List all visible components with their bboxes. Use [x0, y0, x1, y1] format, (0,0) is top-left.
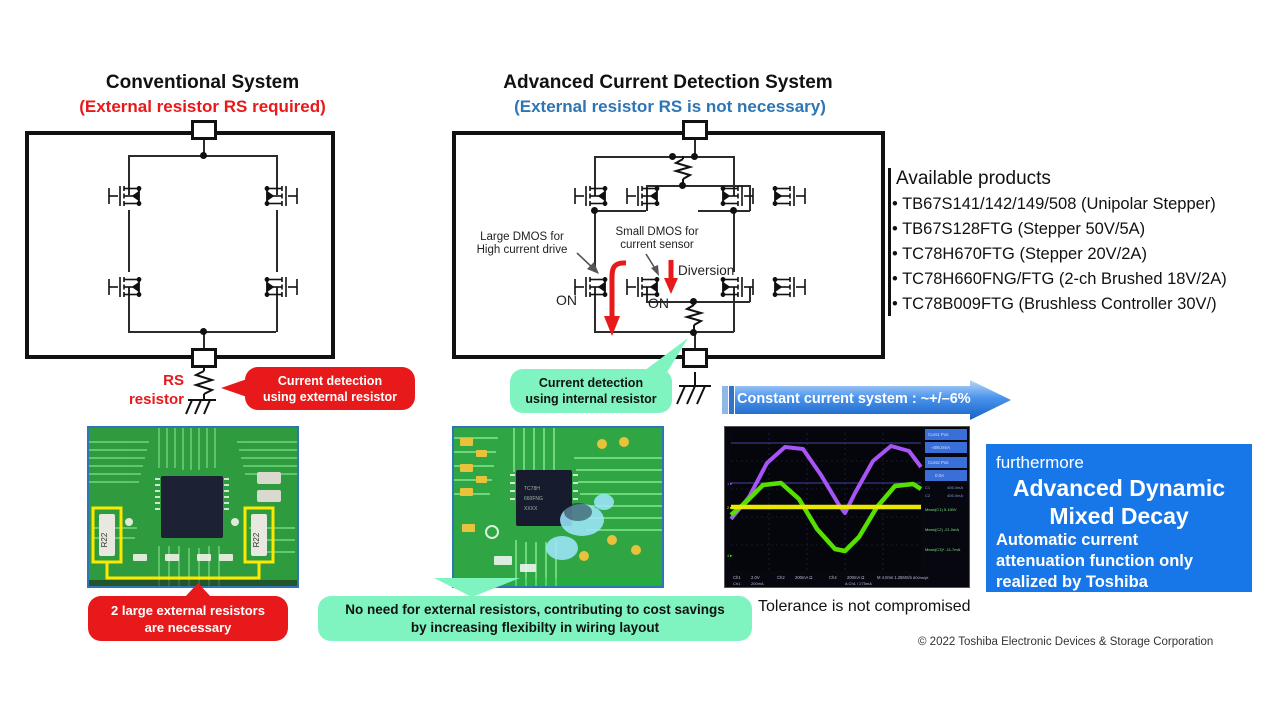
svg-text:A Ch1 / 275mA: A Ch1 / 275mA	[845, 581, 872, 586]
right-panel-title: Advanced Current Detection System	[448, 72, 888, 94]
mosfet-right-bottom-large-left	[573, 272, 617, 302]
product-item: • TC78B009FTG (Brushless Controller 30V/…	[892, 292, 1227, 317]
product-label: TC78B009FTG (Brushless Controller 30V/)	[902, 295, 1217, 313]
node-right-top-a	[669, 153, 676, 160]
mosfet-left-top-a	[107, 181, 151, 211]
bullet-icon: •	[892, 195, 898, 213]
svg-text:406.0mA: 406.0mA	[947, 493, 963, 498]
oscilloscope-screenshot: Curs1 Pos-406.0mA Curs2 Pos0.0A C1406.0m…	[724, 426, 970, 588]
bullet-icon: •	[892, 295, 898, 313]
bullet-icon: •	[892, 220, 898, 238]
svg-text:Mean(C2) -21.0mA: Mean(C2) -21.0mA	[925, 527, 959, 532]
rs-resistor-label: RS resistor	[112, 371, 184, 409]
product-item: • TC78H660FNG/FTG (2-ch Brushed 18V/2A)	[892, 267, 1227, 292]
annotation-large-dmos-line1: Large DMOS for	[462, 231, 582, 244]
svg-text:Curs1 Pos: Curs1 Pos	[928, 432, 949, 437]
svg-text:2►: 2►	[727, 505, 733, 510]
svg-text:R22: R22	[100, 532, 109, 547]
info-box-line2b: Mixed Decay	[996, 502, 1242, 530]
svg-text:4►: 4►	[727, 553, 733, 558]
node-right-top-b	[691, 153, 698, 160]
mosfet-left-top-b	[255, 181, 299, 211]
products-divider	[888, 168, 891, 316]
product-label: TB67S141/142/149/508 (Unipolar Stepper)	[902, 195, 1216, 213]
svg-text:M 4.0ms 1.25MS/s: M 4.0ms 1.25MS/s	[877, 575, 912, 580]
pcb-photo-advanced: TC78H660FNGXXXX	[452, 426, 664, 588]
mosfet-left-bottom-a	[107, 272, 151, 302]
callout-external-resistor-detection: Current detection using external resisto…	[245, 367, 415, 410]
annotation-large-dmos-line2: High current drive	[462, 244, 582, 257]
svg-text:660FNG: 660FNG	[524, 496, 543, 502]
callout-external-tail	[221, 379, 247, 397]
product-item: • TB67S128FTG (Stepper 50V/5A)	[892, 217, 1227, 242]
node-right-mid-left	[591, 207, 598, 214]
pcb-photo-conventional: R22 R22	[87, 426, 299, 588]
svg-text:Ch1: Ch1	[733, 581, 741, 586]
circuit-pin-top-left-diagram	[191, 120, 217, 140]
circuit-pin-top-right-diagram	[682, 120, 708, 140]
svg-text:Ch2: Ch2	[777, 575, 785, 580]
callout-int-line2: using internal resistor	[525, 391, 656, 407]
mosfet-right-bottom-large-right	[763, 272, 807, 302]
callout-two-res-line2: are necessary	[145, 619, 232, 636]
callout-no-external-resistors: No need for external resistors, contribu…	[318, 596, 752, 641]
svg-text:Mean(C1) 5.190V: Mean(C1) 5.190V	[925, 507, 957, 512]
mosfet-right-bottom-sense-left	[625, 272, 669, 302]
products-list: • TB67S141/142/149/508 (Unipolar Stepper…	[892, 192, 1227, 317]
info-box-line2a: Advanced Dynamic	[996, 474, 1242, 502]
info-box-line1: furthermore	[996, 452, 1242, 474]
callout-two-res-line1: 2 large external resistors	[111, 602, 265, 619]
svg-text:Ch1: Ch1	[733, 575, 741, 580]
callout-no-external-tail	[432, 578, 522, 603]
mosfet-right-top-sense-left	[625, 181, 669, 211]
node-left-top	[200, 152, 207, 159]
right-panel-subtitle: (External resistor RS is not necessary)	[420, 97, 920, 117]
svg-text:0.0A: 0.0A	[935, 473, 944, 478]
tolerance-note: Tolerance is not compromised	[758, 598, 971, 616]
circuit-pin-bottom-left-diagram	[191, 348, 217, 368]
annotation-small-dmos: Small DMOS for current sensor	[597, 226, 717, 252]
svg-text:C1: C1	[925, 485, 931, 490]
svg-text:TC78H: TC78H	[524, 486, 540, 492]
node-left-bottom	[200, 328, 207, 335]
external-resistor-rs	[191, 367, 217, 401]
svg-text:406.0mA: 406.0mA	[947, 485, 963, 490]
callout-ext-line1: Current detection	[278, 373, 382, 389]
svg-text:2.0V: 2.0V	[751, 575, 760, 580]
annotation-small-dmos-line2: current sensor	[597, 239, 717, 252]
callout-internal-tail	[620, 338, 690, 381]
info-box-line3b: attenuation function only	[996, 551, 1242, 572]
annotation-small-dmos-line1: Small DMOS for	[597, 226, 717, 239]
svg-text:200mA: 200mA	[751, 581, 764, 586]
svg-text:Curs2 Pos: Curs2 Pos	[928, 460, 949, 465]
svg-text:Mean(C3)* -11.7mA: Mean(C3)* -11.7mA	[925, 547, 961, 552]
product-item: • TC78H670FTG (Stepper 20V/2A)	[892, 242, 1227, 267]
ground-symbol-left	[183, 398, 225, 418]
node-right-mid-right	[730, 207, 737, 214]
banner-text: Constant current system : ~+/–6%	[737, 391, 971, 407]
svg-text:200mA Ω: 200mA Ω	[847, 575, 864, 580]
left-panel-title: Conventional System	[0, 72, 405, 94]
product-item: • TB67S141/142/149/508 (Unipolar Stepper…	[892, 192, 1227, 217]
svg-text:200mA Ω: 200mA Ω	[795, 575, 812, 580]
rs-label-line2: resistor	[112, 390, 184, 409]
svg-text:800ns/pt: 800ns/pt	[913, 575, 929, 580]
left-panel-subtitle: (External resistor RS required)	[0, 97, 405, 117]
svg-text:R22: R22	[252, 532, 261, 547]
conventional-circuit-frame	[25, 131, 335, 359]
annotation-large-dmos: Large DMOS for High current drive	[462, 231, 582, 257]
svg-text:-406.0mA: -406.0mA	[931, 445, 950, 450]
wire-right-top-rail	[594, 156, 734, 158]
svg-text:Ch4: Ch4	[829, 575, 837, 580]
svg-text:C2: C2	[925, 493, 931, 498]
node-right-sense-bottom-bot	[690, 329, 697, 336]
svg-text:XXXX: XXXX	[524, 506, 538, 512]
product-label: TC78H670FTG (Stepper 20V/2A)	[902, 245, 1147, 263]
callout-two-resistors-tail	[178, 583, 218, 604]
mosfet-right-bottom-sense-right	[711, 272, 755, 302]
copyright-text: © 2022 Toshiba Electronic Devices & Stor…	[918, 636, 1213, 648]
node-right-sense-bottom-top	[690, 298, 697, 305]
advanced-dynamic-mixed-decay-box: furthermore Advanced Dynamic Mixed Decay…	[986, 444, 1252, 592]
callout-ext-line2: using external resistor	[263, 389, 397, 405]
rs-label-line1: RS	[112, 371, 184, 390]
wire-left-leg-b-mid	[276, 210, 278, 272]
callout-no-ext-line1: No need for external resistors, contribu…	[345, 601, 725, 619]
product-label: TC78H660FNG/FTG (2-ch Brushed 18V/2A)	[902, 270, 1227, 288]
info-box-line3a: Automatic current	[996, 530, 1242, 551]
wire-left-leg-a-mid	[128, 210, 130, 272]
products-title: Available products	[896, 166, 1051, 191]
svg-text:1►: 1►	[727, 481, 733, 486]
mosfet-right-top-large-right	[763, 181, 807, 211]
info-box-line3c: realized by Toshiba	[996, 572, 1242, 593]
callout-no-ext-line2: by increasing flexibilty in wiring layou…	[411, 619, 659, 637]
node-right-sense-top	[679, 182, 686, 189]
circuit-pin-bottom-right-diagram	[682, 348, 708, 368]
bullet-icon: •	[892, 270, 898, 288]
bullet-icon: •	[892, 245, 898, 263]
product-label: TB67S128FTG (Stepper 50V/5A)	[902, 220, 1145, 238]
mosfet-left-bottom-b	[255, 272, 299, 302]
